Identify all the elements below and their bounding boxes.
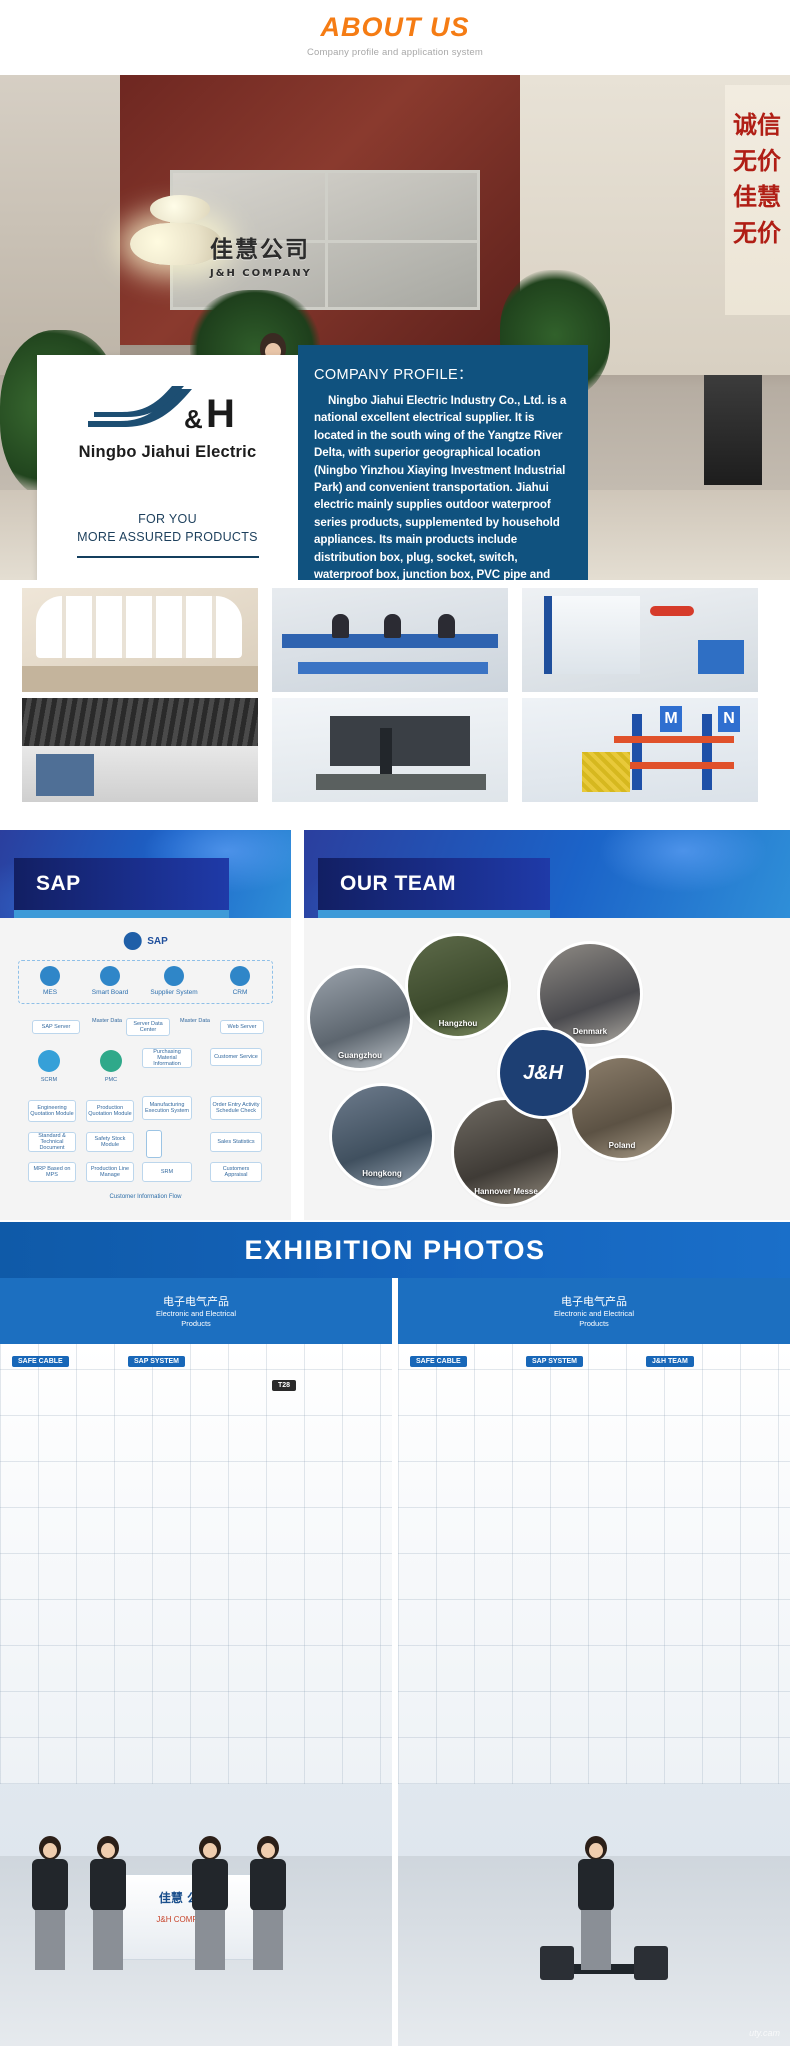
logo-company-name: Ningbo Jiahui Electric (37, 443, 298, 462)
team-label: Guangzhou (310, 1051, 410, 1060)
booth-header-en-2: Products (579, 1319, 609, 1329)
sap-flow-node: Master Data (88, 1016, 126, 1026)
figure-top (250, 1859, 286, 1911)
booth-counter: 佳慧 公司 J&H COMPANY (110, 1874, 260, 1960)
page-header: ABOUT US Company profile and application… (0, 0, 790, 75)
team-label: Hongkong (332, 1169, 432, 1178)
staff-member-3 (188, 1836, 232, 1986)
safety-cage (582, 752, 630, 792)
team-circle-denmark: Denmark (540, 944, 640, 1044)
sap-flow-node: Purchasing Material Information (142, 1048, 192, 1068)
logo-mark: & H (37, 383, 298, 435)
sap-flow-node: Sales Statistics (210, 1132, 262, 1152)
booth-tag-t28: T28 (272, 1380, 296, 1391)
photo-injection-molding-machines (522, 588, 758, 692)
booth-tag-sap-system: SAP SYSTEM (128, 1356, 185, 1367)
photo-warehouse-racking-area: M N (522, 698, 758, 802)
company-logo-card: & H Ningbo Jiahui Electric FOR YOU MORE … (37, 355, 298, 580)
team-panel: OUR TEAM Hangzhou Denmark Poland (304, 830, 790, 1220)
sap-node-label: CRM (233, 989, 248, 996)
pmc-icon (100, 1050, 122, 1072)
staff-member-1 (28, 1836, 72, 1986)
tagline-primary: FOR YOU MORE ASSURED PRODUCTS (37, 510, 298, 546)
sap-node-supplier-system: Supplier System (146, 966, 202, 996)
team-circle-guangzhou: Guangzhou (310, 968, 410, 1068)
photo-watermark: uty.cam (749, 2028, 780, 2038)
sap-node-smart-board: Smart Board (82, 966, 138, 996)
sap-flow-node: SRM (142, 1162, 192, 1182)
mobile-device-icon (146, 1130, 162, 1158)
team-title-band: OUR TEAM (318, 858, 550, 910)
booth-header-en-2: Products (181, 1319, 211, 1329)
team-circles-area: Hangzhou Denmark Poland Hannover Messe H (304, 918, 790, 1220)
figure-top (192, 1859, 228, 1911)
rack-post-2 (702, 714, 712, 790)
booth-header-text: 电子电气产品 Electronic and Electrical Product… (0, 1278, 392, 1344)
booth-header-text: 电子电气产品 Electronic and Electrical Product… (398, 1278, 790, 1344)
rack-post-1 (632, 714, 642, 790)
booth-tag-safe-cable: SAFE CABLE (12, 1356, 69, 1367)
photo-assembly-workshop-line (272, 588, 508, 692)
figure-face (203, 1843, 217, 1858)
sap-node-label: MES (43, 989, 57, 996)
counter-logo-cn: 佳慧 公司 (111, 1889, 259, 1906)
booth-product-wall (0, 1344, 392, 1784)
figure-bottom (253, 1910, 283, 1970)
sap-hub-label: SAP (147, 936, 168, 947)
booth-tag-jh-team: J&H TEAM (646, 1356, 694, 1367)
divider (77, 556, 259, 558)
sap-flow-node: Safety Stock Module (86, 1132, 134, 1152)
sap-diagram: SAP MES Smart Board Supplier System CRM … (0, 918, 291, 1220)
sap-hub: SAP (123, 932, 168, 950)
display-shelf (36, 596, 242, 658)
figure-bottom (195, 1910, 225, 1970)
work-table (316, 774, 486, 790)
sap-flow-node: MRP Based on MPS (28, 1162, 76, 1182)
photo-cnc-cutting-machine (272, 698, 508, 802)
truck-icon (164, 966, 184, 986)
sap-flow-node: Engineering Quotation Module (28, 1100, 76, 1122)
team-label: Hannover Messe (454, 1187, 558, 1196)
team-label: Poland (572, 1141, 672, 1150)
svg-text:H: H (206, 392, 235, 433)
red-hose (650, 606, 694, 616)
people-icon (230, 966, 250, 986)
blue-crate (698, 640, 744, 674)
sap-flow-node: Manufacturing Execution System (142, 1096, 192, 1120)
sap-node-label: Smart Board (92, 989, 129, 996)
sap-flow-node: Customers Appraisal (210, 1162, 262, 1182)
figure-face (589, 1843, 603, 1858)
company-profile-title: COMPANY PROFILE： (314, 363, 572, 384)
rack-beam-lower (614, 762, 734, 769)
exhibition-banner: EXHIBITION PHOTOS (0, 1222, 790, 1278)
team-center-logo: J&H (500, 1030, 586, 1116)
figure-bottom (93, 1910, 123, 1970)
team-label: Hangzhou (408, 1019, 508, 1028)
staff-member-single (574, 1836, 618, 1986)
figure-top (90, 1859, 126, 1911)
showroom-floor (22, 666, 258, 692)
exhibition-photo-left: 电子电气产品 Electronic and Electrical Product… (0, 1278, 392, 2046)
sap-flow-node: Order Entry Activity Schedule Check (210, 1096, 262, 1120)
team-circle-hongkong: Hongkong (332, 1086, 432, 1186)
sap-panel: SAP SAP MES Smart Board Supplier System (0, 830, 291, 1220)
worker-3 (438, 614, 455, 638)
figure-face (43, 1843, 57, 1858)
staff-member-4 (246, 1836, 290, 1986)
sap-flow-node: Production Line Manage (86, 1162, 134, 1182)
booth-header-bar: 电子电气产品 Electronic and Electrical Product… (398, 1278, 790, 1344)
sap-flow-node: Standard & Technical Document (28, 1132, 76, 1152)
booth-header-bar: 电子电气产品 Electronic and Electrical Product… (0, 1278, 392, 1344)
aisle-sign-n: N (718, 706, 740, 732)
sap-flow-diagram: SAP Server Master Data Server Data Cente… (14, 1014, 277, 1204)
worker-1 (332, 614, 349, 638)
booth-tag-sap-system: SAP SYSTEM (526, 1356, 583, 1367)
jh-logo-icon: & H (80, 383, 256, 433)
tagline-secondary: TO PROVIDE YOU WITH MORE SECURE PRODUCTS (37, 578, 298, 580)
gear-icon (40, 966, 60, 986)
team-layout: Hangzhou Denmark Poland Hannover Messe H (304, 918, 790, 1220)
sap-node-crm: CRM (212, 966, 268, 996)
board-icon (100, 966, 120, 986)
company-profile-text: Ningbo Jiahui Electric Industry Co., Ltd… (314, 392, 572, 580)
figure-bottom (581, 1910, 611, 1970)
booth-chair-left (540, 1946, 574, 1980)
molding-machine (544, 596, 640, 674)
aisle-sign-m: M (660, 706, 682, 732)
sap-flow-caption: Customer Information Flow (14, 1194, 277, 1200)
exhibition-photos: 电子电气产品 Electronic and Electrical Product… (0, 1278, 790, 2046)
ceiling-lamp (130, 223, 222, 265)
booth-header-en-1: Electronic and Electrical (156, 1309, 236, 1319)
tagline-line-2: MORE ASSURED PRODUCTS (37, 528, 298, 546)
svg-text:&: & (184, 404, 203, 433)
sap-hub-icon (123, 932, 141, 950)
booth-header-en-1: Electronic and Electrical (554, 1309, 634, 1319)
sap-title-underbar (14, 910, 229, 918)
facility-photo-grid: M N (22, 588, 768, 802)
sap-flow-node: Production Quotation Module (86, 1100, 134, 1122)
booth-header-cn: 电子电气产品 (163, 1293, 229, 1309)
sap-node-label: Supplier System (150, 989, 197, 996)
figure-bottom (35, 1910, 65, 1970)
booth-tag-safe-cable: SAFE CABLE (410, 1356, 467, 1367)
team-circle-poland: Poland (572, 1058, 672, 1158)
office-sign-cn: 佳慧公司 (210, 237, 310, 263)
team-circle-hangzhou: Hangzhou (408, 936, 508, 1036)
office-sign-en: J&H COMPANY (210, 268, 312, 279)
exhibition-title: EXHIBITION PHOTOS (244, 1235, 545, 1266)
office-equipment (704, 375, 762, 485)
hero-section: 佳慧公司 J&H COMPANY 诚信无价佳慧无价 & H Ning (0, 75, 790, 580)
cabinet (36, 754, 94, 796)
sap-node-mes: MES (22, 966, 78, 996)
booth-header-cn: 电子电气产品 (561, 1293, 627, 1309)
booth-product-wall (398, 1344, 790, 1784)
figure-face (261, 1843, 275, 1858)
team-title: OUR TEAM (340, 872, 456, 896)
photo-showroom-display-shelves (22, 588, 258, 692)
figure-face (101, 1843, 115, 1858)
figure-top (578, 1859, 614, 1911)
photo-office-corridor-interior (22, 698, 258, 802)
jh-logo-text: J&H (523, 1062, 563, 1085)
company-profile-panel: COMPANY PROFILE： Ningbo Jiahui Electric … (298, 345, 588, 580)
sap-flow-node: Customer Service (210, 1048, 262, 1066)
sap-flow-node: SCRM (28, 1074, 70, 1086)
page-title: ABOUT US (0, 12, 790, 43)
sap-flow-node: Server Data Center (126, 1018, 170, 1036)
team-title-underbar (318, 910, 550, 918)
booth-chair-right (634, 1946, 668, 1980)
workbench-lower (298, 662, 488, 674)
rack-beam-upper (614, 736, 734, 743)
sap-title-band: SAP (14, 858, 229, 910)
page-subtitle: Company profile and application system (0, 47, 790, 58)
figure-top (32, 1859, 68, 1911)
ceiling-lamp-secondary (150, 195, 210, 223)
office-sign: 佳慧公司 J&H COMPANY (210, 230, 312, 279)
counter-logo-en: J&H COMPANY (111, 1915, 259, 1924)
sap-flow-node: PMC (90, 1074, 132, 1086)
system-and-team-section: SAP SAP MES Smart Board Supplier System (0, 830, 790, 1220)
cnc-gantry (330, 716, 470, 766)
sap-flow-node: SAP Server (32, 1020, 80, 1034)
sap-flow-node: Master Data (176, 1016, 214, 1026)
cnc-spindle (380, 728, 392, 774)
ceiling-grid (22, 698, 258, 746)
sap-flow-node: Web Server (220, 1020, 264, 1034)
staff-member-2 (86, 1836, 130, 1986)
worker-2 (384, 614, 401, 638)
scrm-icon (38, 1050, 60, 1072)
exhibition-photo-right: 电子电气产品 Electronic and Electrical Product… (398, 1278, 790, 2046)
sap-title: SAP (36, 872, 81, 896)
tagline-line-3: TO PROVIDE YOU WITH (37, 578, 298, 580)
wall-slogan-banner: 诚信无价佳慧无价 (725, 85, 790, 315)
wall-slogan-text: 诚信无价佳慧无价 (732, 107, 782, 251)
tagline-line-1: FOR YOU (37, 510, 298, 528)
